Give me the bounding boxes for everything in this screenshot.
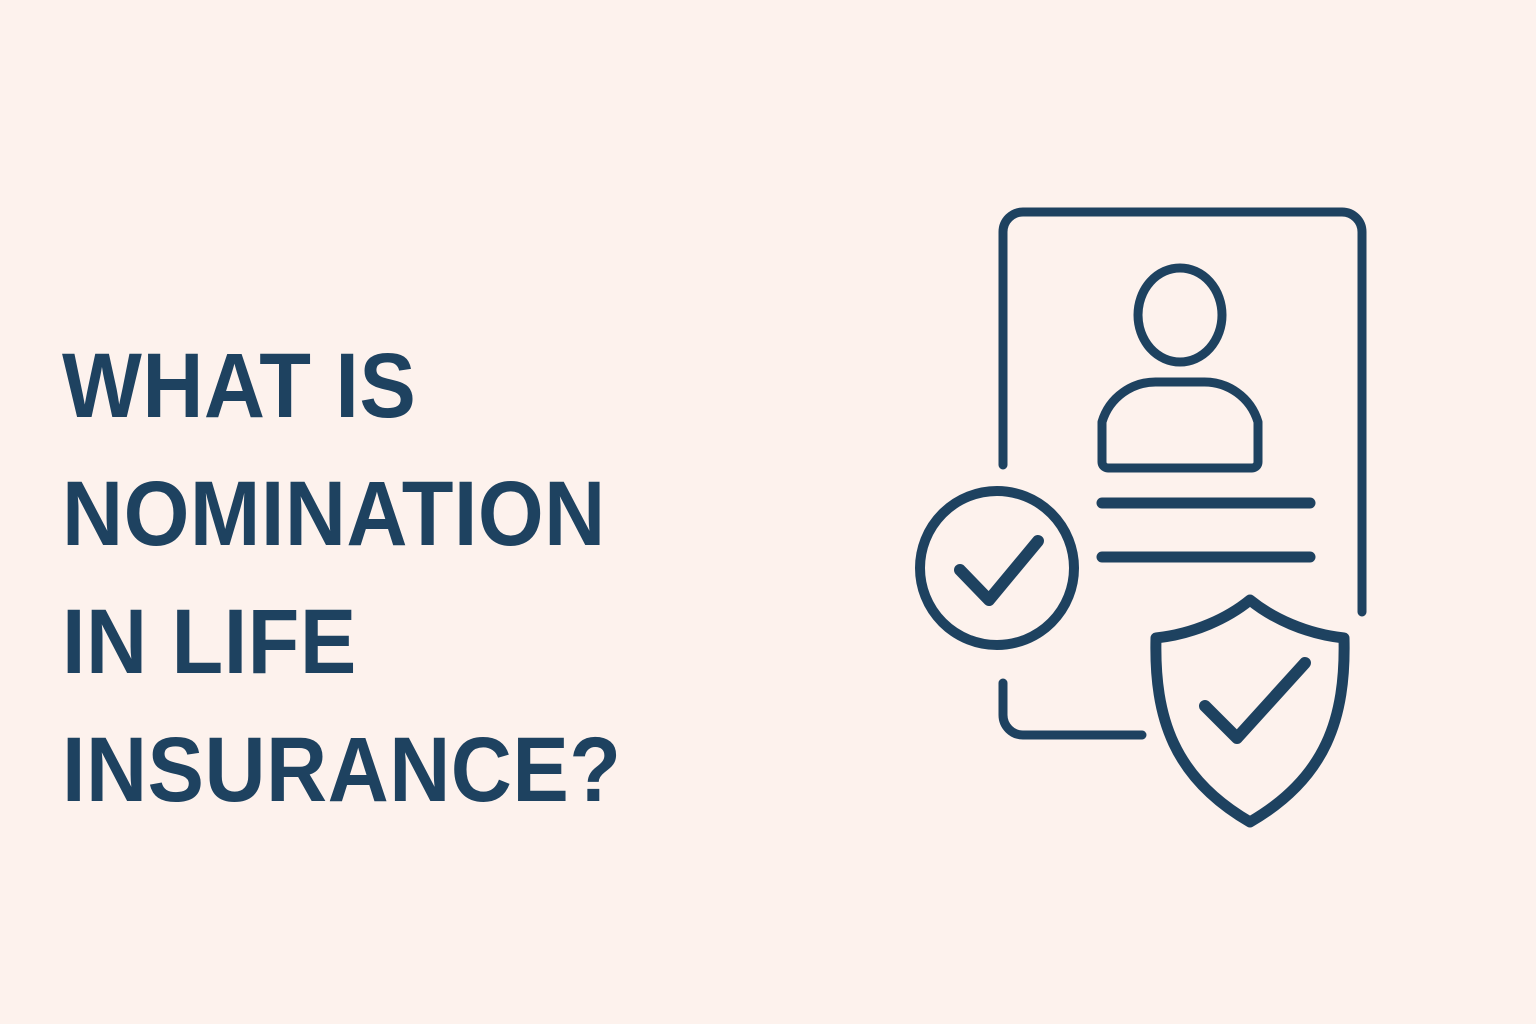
- person-avatar-icon: [1102, 268, 1258, 468]
- avatar-head-icon: [1138, 268, 1222, 362]
- headline-line-4: INSURANCE?: [62, 706, 743, 834]
- avatar-body-icon: [1102, 382, 1258, 468]
- insurance-nomination-illustration: [880, 160, 1400, 860]
- document-card-outline-bottom: [1003, 683, 1142, 735]
- page-title: WHAT IS NOMINATION IN LIFE INSURANCE?: [62, 322, 802, 834]
- headline-line-2: NOMINATION: [62, 450, 743, 578]
- headline-line-1: WHAT IS: [62, 322, 743, 450]
- headline-line-3: IN LIFE: [62, 578, 743, 706]
- shield-check-icon: [1148, 594, 1352, 832]
- check-circle-icon: [913, 484, 1081, 652]
- poster-canvas: WHAT IS NOMINATION IN LIFE INSURANCE?: [0, 0, 1536, 1024]
